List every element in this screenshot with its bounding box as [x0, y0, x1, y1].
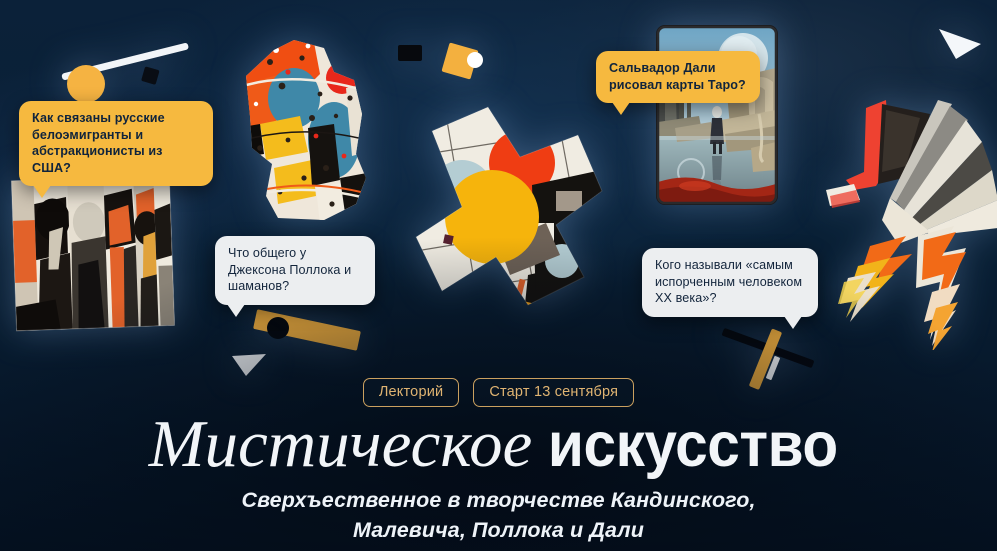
speech-bubble-worst-person-text: Кого называли «самым испорченным человек…	[655, 258, 802, 305]
shape-black-rect-orange-square	[396, 36, 496, 92]
speech-bubble-worst-person[interactable]: Кого называли «самым испорченным человек…	[642, 248, 818, 317]
bubble-tail	[784, 316, 802, 329]
speech-bubble-emigrants-text: Как связаны русские белоэмигранты и абст…	[32, 111, 165, 175]
shape-bar-circle-topleft	[46, 24, 216, 104]
artwork-abstract-shards	[820, 60, 997, 350]
bubble-tail	[33, 185, 51, 198]
page-title-serif-part: Мистическое	[149, 407, 533, 481]
speech-bubble-pollock[interactable]: Что общего у Джексона Поллока и шаманов?	[215, 236, 375, 305]
badge-start-date[interactable]: Старт 13 сентября	[473, 378, 634, 407]
speech-bubble-dali[interactable]: Сальвадор Дали рисовал карты Таро?	[596, 51, 760, 103]
page-title: Мистическое искусство	[0, 406, 997, 483]
speech-bubble-dali-text: Сальвадор Дали рисовал карты Таро?	[609, 61, 746, 92]
shape-orange-bar-black-dot	[248, 306, 368, 356]
page-subtitle-line-2: Малевича, Поллока и Дали	[0, 516, 997, 546]
speech-bubble-pollock-text: Что общего у Джексона Поллока и шаманов?	[228, 246, 351, 293]
bubble-tail	[612, 102, 630, 115]
artwork-kandinsky-cross	[370, 95, 625, 350]
artwork-pollock-splatter	[216, 28, 396, 238]
badge-lectorium[interactable]: Лекторий	[363, 378, 460, 407]
badge-row: Лекторий Старт 13 сентября	[0, 378, 997, 407]
bubble-tail	[227, 304, 245, 317]
page-title-sans-part: искусство	[548, 409, 838, 481]
page-subtitle: Сверхъественное в творчестве Кандинского…	[0, 486, 997, 545]
speech-bubble-emigrants[interactable]: Как связаны русские белоэмигранты и абст…	[19, 101, 213, 186]
promo-banner: Как связаны русские белоэмигранты и абст…	[0, 0, 997, 551]
page-subtitle-line-1: Сверхъественное в творчестве Кандинского…	[0, 486, 997, 516]
